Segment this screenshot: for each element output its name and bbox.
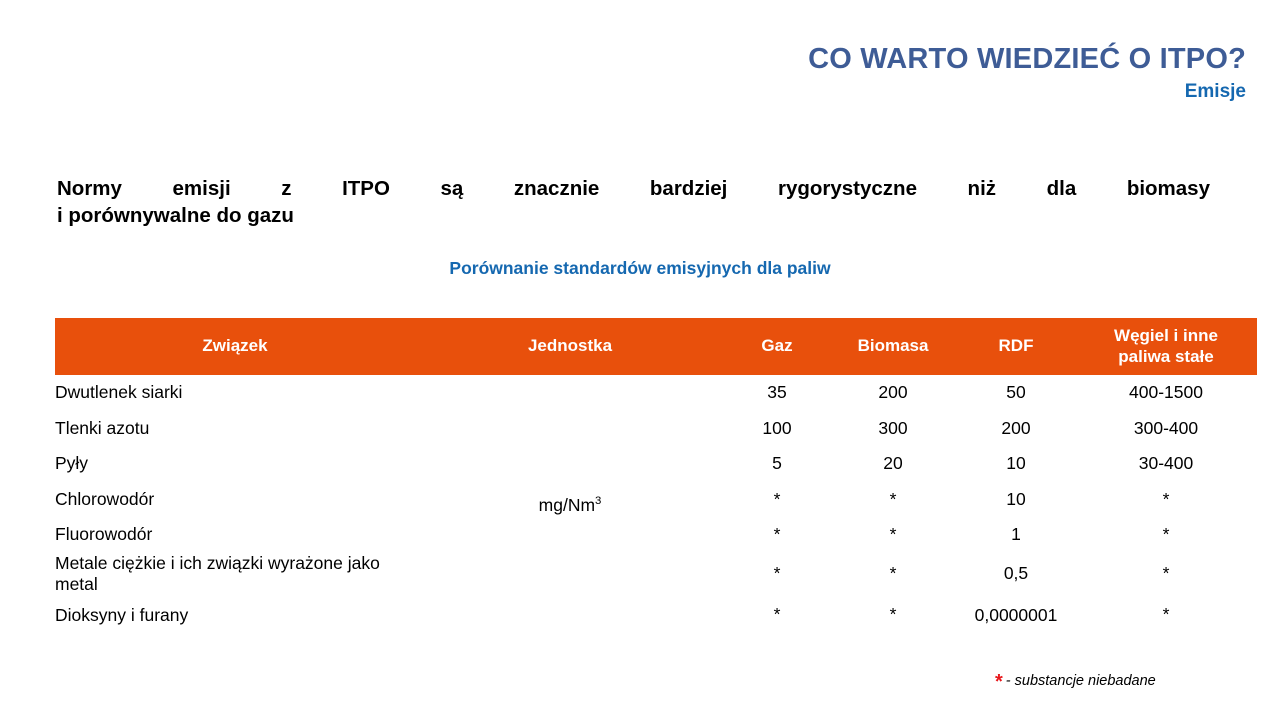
- table-row: Dwutlenek siarki mg/Nm3 35 200 50 400-15…: [55, 375, 1257, 411]
- unit-superscript: 3: [595, 495, 601, 507]
- cell-unit: mg/Nm3: [415, 375, 725, 636]
- cell-biomasa: *: [829, 595, 957, 636]
- cell-wegiel: *: [1075, 482, 1257, 518]
- cell-compound: Dioksyny i furany: [55, 595, 415, 636]
- page-subtitle: Emisje: [808, 82, 1246, 103]
- cell-wegiel: 30-400: [1075, 446, 1257, 482]
- cell-rdf: 10: [957, 482, 1075, 518]
- cell-gaz: *: [725, 482, 829, 518]
- cell-compound: Fluorowodór: [55, 517, 415, 553]
- cell-compound: Chlorowodór: [55, 482, 415, 518]
- slide-header: CO WARTO WIEDZIEĆ O ITPO? Emisje: [808, 44, 1246, 103]
- cell-wegiel: *: [1075, 595, 1257, 636]
- cell-biomasa: *: [829, 482, 957, 518]
- emissions-table: Związek Jednostka Gaz Biomasa RDF Węgiel…: [55, 318, 1257, 636]
- footnote-asterisk-icon: *: [995, 671, 1003, 693]
- cell-gaz: 100: [725, 411, 829, 447]
- cell-gaz: *: [725, 595, 829, 636]
- footnote-text: - substancje niebadane: [1006, 673, 1156, 689]
- lead-paragraph-line-2: i porównywalne do gazu: [57, 202, 1210, 229]
- cell-rdf: 50: [957, 375, 1075, 411]
- column-header-wegiel-line-1: Węgiel i inne: [1114, 326, 1218, 345]
- lead-paragraph: Normy emisji z ITPO są znacznie bardziej…: [57, 175, 1210, 230]
- cell-compound: Dwutlenek siarki: [55, 375, 415, 411]
- footnote: *- substancje niebadane: [995, 672, 1255, 692]
- table-body: Dwutlenek siarki mg/Nm3 35 200 50 400-15…: [55, 375, 1257, 636]
- cell-wegiel: *: [1075, 517, 1257, 553]
- cell-rdf: 0,5: [957, 553, 1075, 595]
- cell-biomasa: 300: [829, 411, 957, 447]
- cell-rdf: 200: [957, 411, 1075, 447]
- column-header-unit: Jednostka: [415, 318, 725, 375]
- column-header-wegiel: Węgiel i inne paliwa stałe: [1075, 318, 1257, 375]
- cell-compound: Pyły: [55, 446, 415, 482]
- unit-value: mg/Nm: [539, 495, 595, 515]
- cell-rdf: 10: [957, 446, 1075, 482]
- cell-gaz: 5: [725, 446, 829, 482]
- table-header-row: Związek Jednostka Gaz Biomasa RDF Węgiel…: [55, 318, 1257, 375]
- table-caption: Porównanie standardów emisyjnych dla pal…: [0, 258, 1280, 279]
- column-header-rdf: RDF: [957, 318, 1075, 375]
- lead-paragraph-line-1: Normy emisji z ITPO są znacznie bardziej…: [57, 175, 1210, 202]
- column-header-compound: Związek: [55, 318, 415, 375]
- cell-wegiel: *: [1075, 553, 1257, 595]
- cell-compound: Metale ciężkie i ich związki wyrażone ja…: [55, 553, 415, 595]
- cell-biomasa: *: [829, 553, 957, 595]
- page-title: CO WARTO WIEDZIEĆ O ITPO?: [808, 44, 1246, 76]
- cell-rdf: 1: [957, 517, 1075, 553]
- cell-rdf: 0,0000001: [957, 595, 1075, 636]
- cell-gaz: *: [725, 553, 829, 595]
- cell-biomasa: *: [829, 517, 957, 553]
- column-header-gaz: Gaz: [725, 318, 829, 375]
- cell-biomasa: 20: [829, 446, 957, 482]
- cell-wegiel: 400-1500: [1075, 375, 1257, 411]
- column-header-biomasa: Biomasa: [829, 318, 957, 375]
- column-header-wegiel-line-2: paliwa stałe: [1118, 347, 1213, 366]
- cell-compound: Tlenki azotu: [55, 411, 415, 447]
- cell-gaz: *: [725, 517, 829, 553]
- cell-gaz: 35: [725, 375, 829, 411]
- table-header: Związek Jednostka Gaz Biomasa RDF Węgiel…: [55, 318, 1257, 375]
- cell-biomasa: 200: [829, 375, 957, 411]
- cell-wegiel: 300-400: [1075, 411, 1257, 447]
